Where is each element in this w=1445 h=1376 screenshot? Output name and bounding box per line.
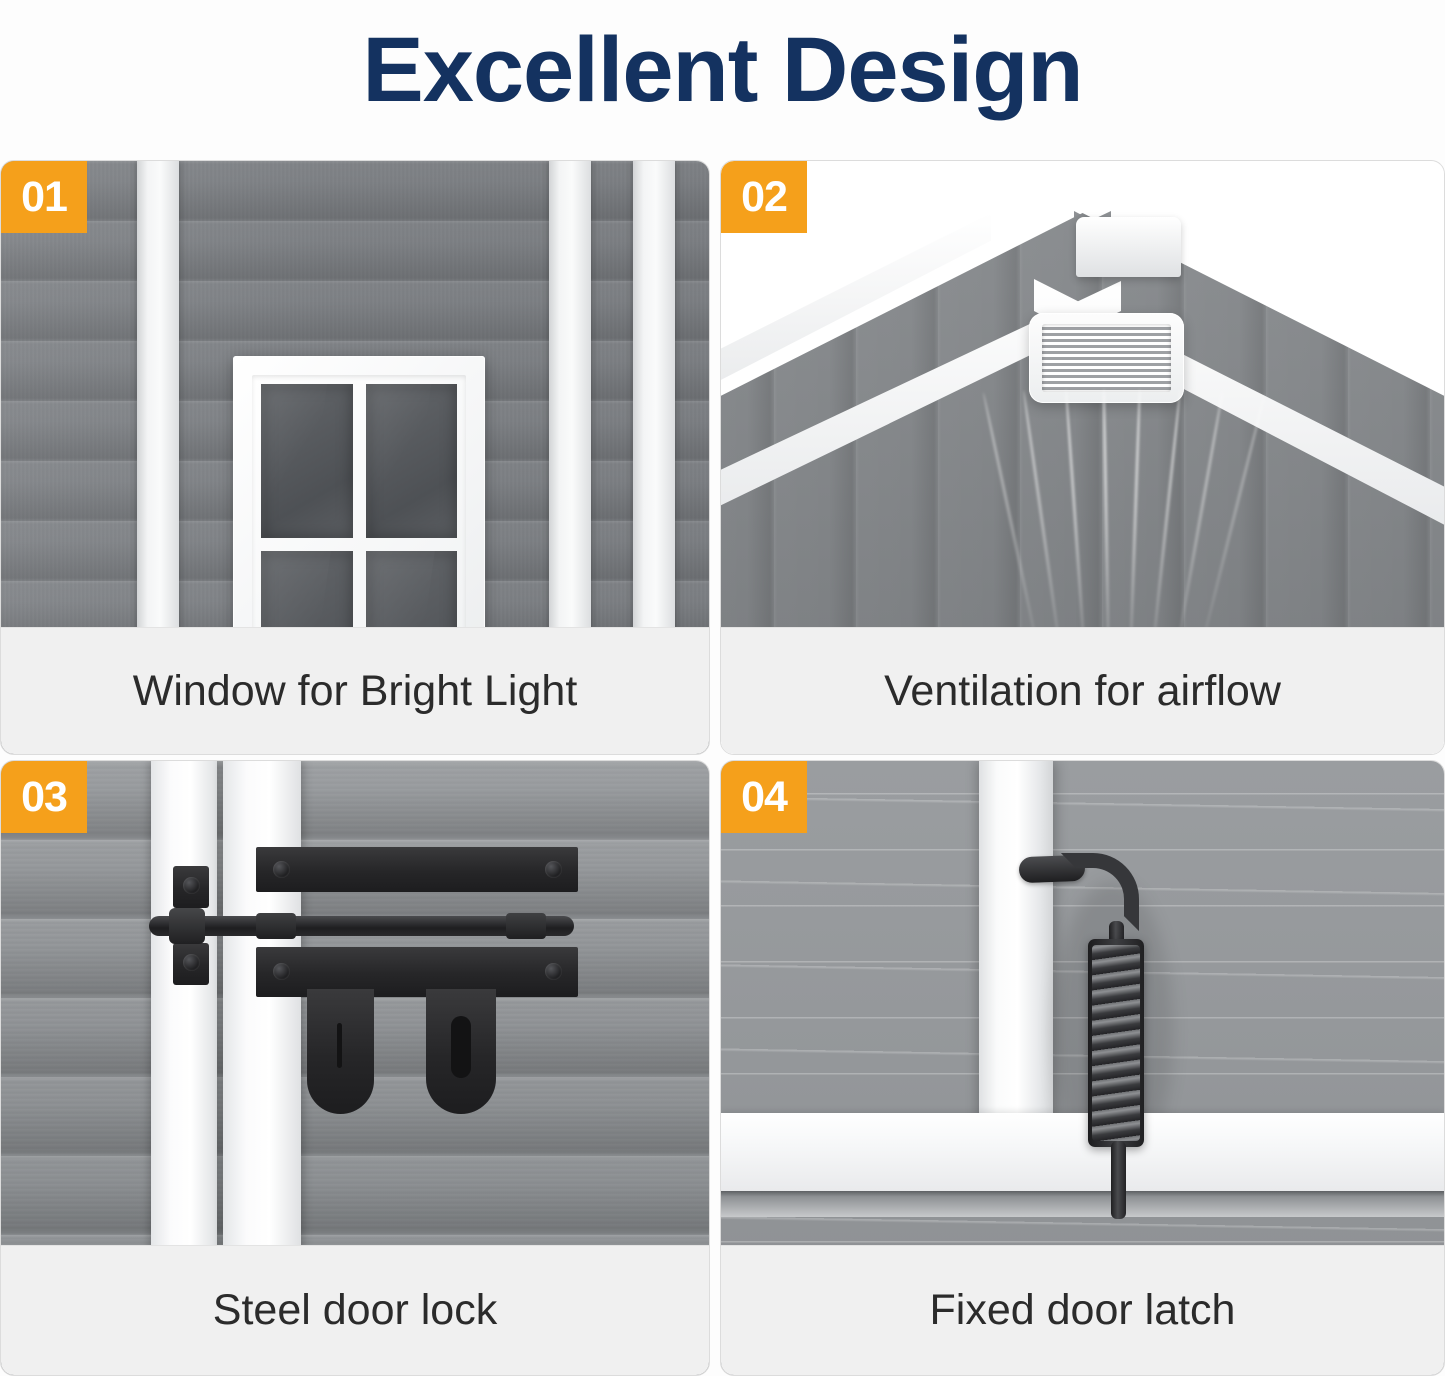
feature-card-03[interactable]: 03 Steel door lock <box>0 760 710 1376</box>
card-03-caption-text: Steel door lock <box>213 1286 497 1335</box>
screw-keeper-bottom <box>183 954 200 971</box>
door-mullion <box>979 761 1053 1121</box>
window-pane-top-right <box>366 384 458 538</box>
card-01-badge-number: 01 <box>21 176 67 219</box>
screw-plate-top-right <box>545 861 562 878</box>
card-01-caption: Window for Bright Light <box>1 627 709 754</box>
screw-plate-bottom-left <box>273 963 290 980</box>
lock-backplate-bottom <box>256 947 578 997</box>
screw-keeper-top <box>183 877 200 894</box>
card-01-caption-text: Window for Bright Light <box>133 667 578 716</box>
feature-card-02[interactable]: 02 Ventilation for airflow <box>720 160 1445 755</box>
vent-louver-slats <box>1042 324 1171 392</box>
card-02-badge-number: 02 <box>741 176 787 219</box>
roof-peak-cap <box>1076 217 1181 277</box>
feature-card-04[interactable]: 04 Fixed door latch <box>720 760 1445 1376</box>
lock-bolt-collar-left <box>256 913 296 939</box>
latch-rod-lower <box>1111 1141 1126 1219</box>
feature-grid-page: Excellent Design 01 <box>0 0 1445 1376</box>
page-title-container: Excellent Design <box>0 0 1445 140</box>
latch-spring-bracket <box>1088 939 1144 1147</box>
card-02-caption-text: Ventilation for airflow <box>884 667 1281 716</box>
feature-card-01[interactable]: 01 Window for Bright Light <box>0 160 710 755</box>
card-03-badge-number: 03 <box>21 776 67 819</box>
door-sill <box>721 1113 1444 1191</box>
card-03-caption: Steel door lock <box>1 1245 709 1375</box>
latch-coil-spring <box>1092 945 1140 1141</box>
lock-bolt-knob <box>169 908 205 944</box>
card-01-badge: 01 <box>1 161 87 233</box>
card-04-caption-text: Fixed door latch <box>930 1286 1236 1335</box>
lock-backplate-top <box>256 847 578 892</box>
screw-plate-top-left <box>273 861 290 878</box>
window-pane-top-left <box>261 384 353 538</box>
card-04-badge-number: 04 <box>741 776 787 819</box>
floor-strip <box>721 1191 1444 1217</box>
card-03-badge: 03 <box>1 761 87 833</box>
lock-hasp-left-slot <box>337 1023 342 1068</box>
card-04-badge: 04 <box>721 761 807 833</box>
lock-bolt-collar-right <box>506 913 546 939</box>
lock-hasp-right-slot <box>451 1016 471 1078</box>
card-04-caption: Fixed door latch <box>721 1245 1444 1375</box>
page-title: Excellent Design <box>362 24 1082 116</box>
card-02-caption: Ventilation for airflow <box>721 627 1444 754</box>
feature-card-grid: 01 Window for Bright Light <box>0 160 1445 1376</box>
card-02-badge: 02 <box>721 161 807 233</box>
screw-plate-bottom-right <box>545 963 562 980</box>
